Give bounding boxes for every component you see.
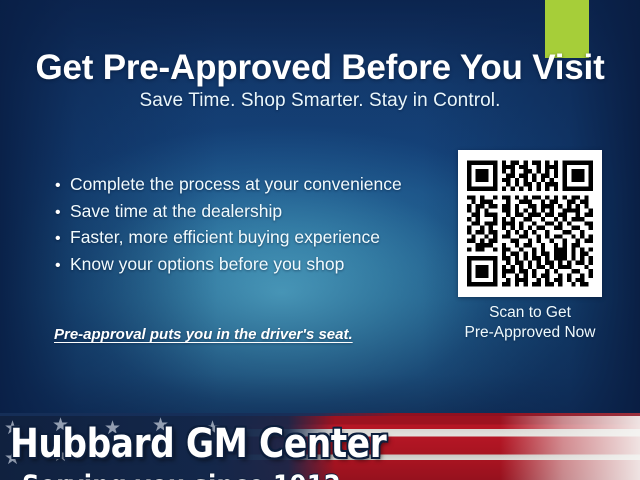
list-item: •Know your options before you shop	[55, 252, 402, 279]
tagline-text: Pre-approval puts you in the driver's se…	[54, 326, 353, 343]
bullet-dot-icon: •	[55, 174, 70, 199]
list-item: •Complete the process at your convenienc…	[55, 172, 402, 199]
qr-caption-line2: Pre-Approved Now	[440, 323, 620, 343]
bullet-dot-icon: •	[55, 227, 70, 252]
banner-top-edge	[0, 413, 640, 416]
page-subtitle: Save Time. Shop Smarter. Stay in Control…	[0, 90, 640, 112]
qr-code[interactable]	[458, 150, 602, 297]
slide-canvas: Get Pre-Approved Before You Visit Save T…	[0, 0, 640, 480]
dealer-name: Hubbard GM Center	[10, 421, 386, 467]
bullet-dot-icon: •	[55, 201, 70, 226]
flag-fade	[500, 413, 640, 480]
benefits-list: •Complete the process at your convenienc…	[55, 172, 402, 278]
bullet-dot-icon: •	[55, 254, 70, 279]
list-item-label: Save time at the dealership	[70, 201, 282, 221]
list-item-label: Faster, more efficient buying experience	[70, 227, 380, 247]
list-item: •Save time at the dealership	[55, 199, 402, 226]
qr-code-image	[467, 159, 593, 288]
dealer-banner: ★ ★ ★ ★ ★ ★ ★ Hubbard GM Center Serving …	[0, 413, 640, 480]
page-title: Get Pre-Approved Before You Visit	[0, 50, 640, 85]
qr-caption-line1: Scan to Get	[440, 303, 620, 323]
list-item: •Faster, more efficient buying experienc…	[55, 225, 402, 252]
list-item-label: Know your options before you shop	[70, 254, 344, 274]
qr-caption: Scan to Get Pre-Approved Now	[440, 303, 620, 343]
dealer-tagline: Serving you since 1912	[22, 470, 341, 480]
list-item-label: Complete the process at your convenience	[70, 174, 402, 194]
